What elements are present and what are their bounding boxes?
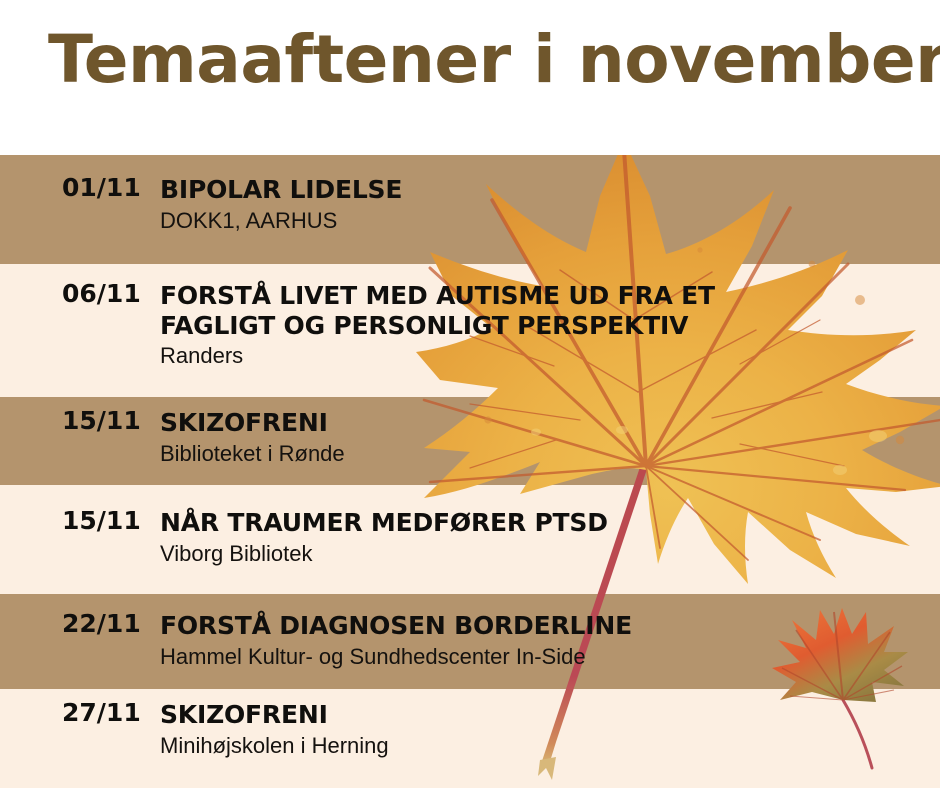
event-venue: Biblioteket i Rønde [160,441,940,467]
event-title: NÅR TRAUMER MEDFØRER PTSD [160,508,940,538]
event-title: FORSTÅ DIAGNOSEN BORDERLINE [160,611,940,641]
event-venue: DOKK1, AARHUS [160,208,940,234]
event-row-2[interactable]: 06/11 FORSTÅ LIVET MED AUTISME UD FRA ET… [0,281,940,369]
event-body: FORSTÅ DIAGNOSEN BORDERLINE Hammel Kultu… [160,611,940,670]
event-date: 15/11 [0,408,160,434]
page-title: Temaaftener i november [48,27,940,93]
event-body: NÅR TRAUMER MEDFØRER PTSD Viborg Bibliot… [160,508,940,567]
event-body: SKIZOFRENI Minihøjskolen i Herning [160,700,940,759]
poster-header: Temaaftener i november [0,0,940,155]
event-title: FORSTÅ LIVET MED AUTISME UD FRA ET FAGLI… [160,281,800,340]
event-body: BIPOLAR LIDELSE DOKK1, AARHUS [160,175,940,234]
event-body: SKIZOFRENI Biblioteket i Rønde [160,408,940,467]
event-title: SKIZOFRENI [160,700,940,730]
event-venue: Randers [160,343,800,369]
event-title: SKIZOFRENI [160,408,940,438]
event-venue: Minihøjskolen i Herning [160,733,940,759]
event-date: 06/11 [0,281,160,307]
event-date: 27/11 [0,700,160,726]
event-body: FORSTÅ LIVET MED AUTISME UD FRA ET FAGLI… [160,281,940,369]
event-date: 01/11 [0,175,160,201]
poster-canvas: Temaaftener i november 01/11 BIPOLAR LID… [0,0,940,788]
event-date: 22/11 [0,611,160,637]
event-title: BIPOLAR LIDELSE [160,175,940,205]
event-venue: Hammel Kultur- og Sundhedscenter In-Side [160,644,940,670]
event-row-3[interactable]: 15/11 SKIZOFRENI Biblioteket i Rønde [0,408,940,467]
event-date: 15/11 [0,508,160,534]
event-row-5[interactable]: 22/11 FORSTÅ DIAGNOSEN BORDERLINE Hammel… [0,611,940,670]
event-row-6[interactable]: 27/11 SKIZOFRENI Minihøjskolen i Herning [0,700,940,759]
event-row-4[interactable]: 15/11 NÅR TRAUMER MEDFØRER PTSD Viborg B… [0,508,940,567]
event-row-1[interactable]: 01/11 BIPOLAR LIDELSE DOKK1, AARHUS [0,175,940,234]
event-venue: Viborg Bibliotek [160,541,940,567]
